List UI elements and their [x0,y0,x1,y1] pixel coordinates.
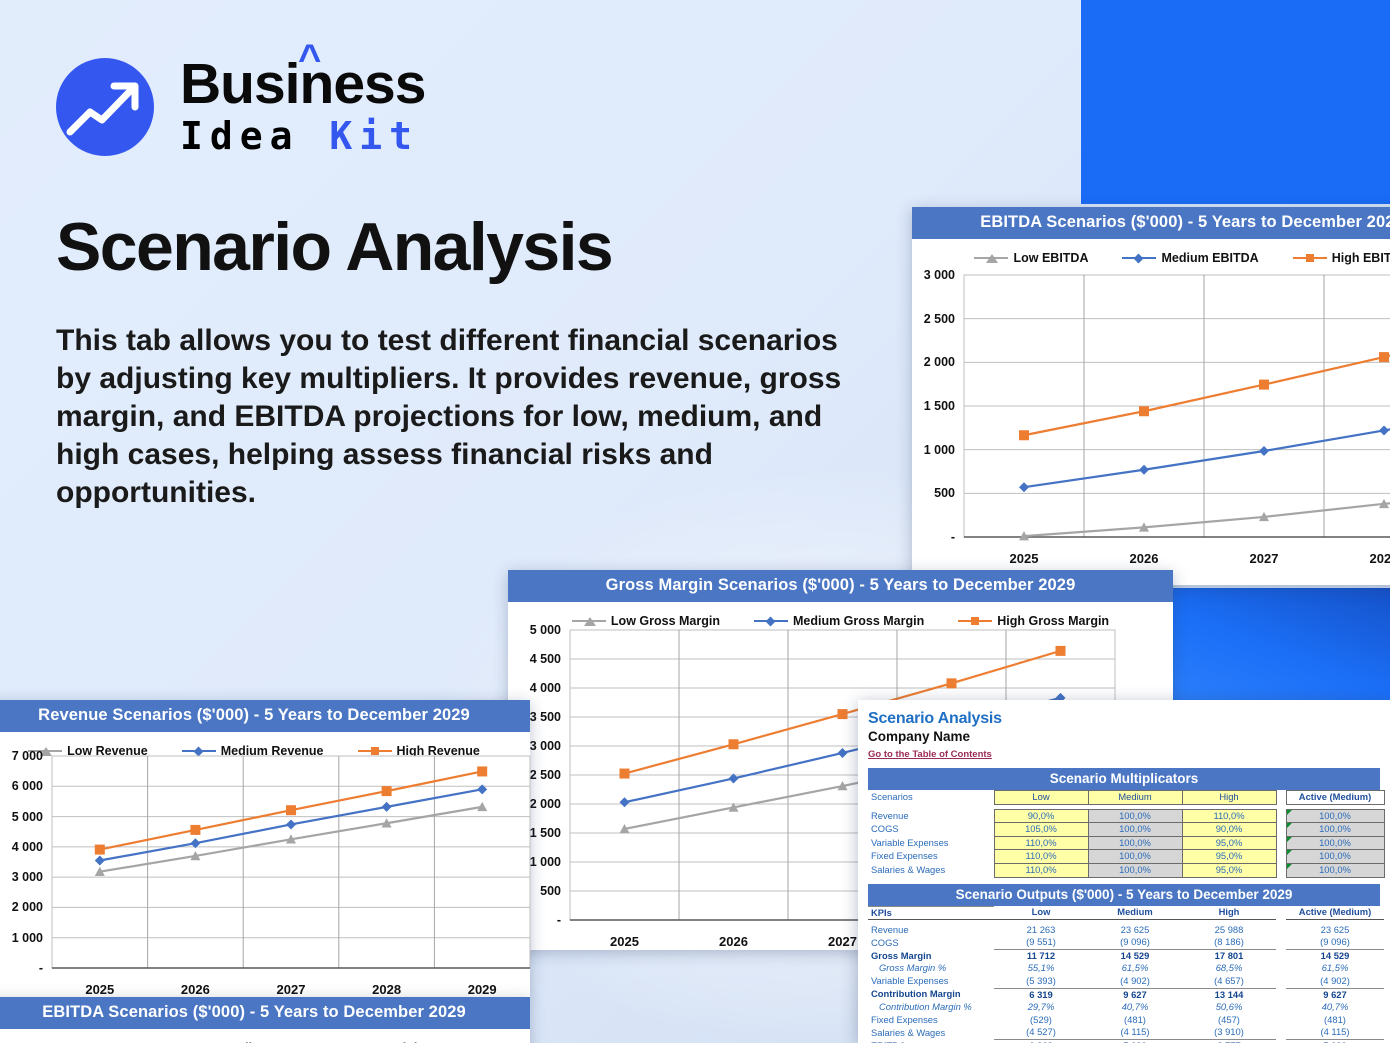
legend-label: Low EBITDA [1013,251,1088,265]
x-axis-tick-label: 2028 [1370,551,1390,566]
y-axis-tick-label: 3 000 [924,268,955,282]
cell-high: (457) [1182,1014,1276,1027]
cell-low: 11 712 [994,949,1088,962]
comment-flag-icon [1287,850,1292,855]
cell-active: (4 902) [1286,975,1384,988]
legend-label: Low Gross Margin [611,614,720,628]
cell-low: 1 263 [994,1040,1088,1043]
y-axis-tick-label: 2 500 [530,768,561,782]
table-header-row: ScenariosLowMediumHigh Active (Medium) [868,791,1384,805]
header-low: Low [994,791,1088,805]
chart-legend: Low EBITDA Medium EBITDA High EBITDA [0,1029,530,1043]
row-label: Contribution Margin % [868,1001,994,1014]
row-label: Revenue [868,809,994,823]
cell-medium[interactable]: 100,0% [1088,823,1182,837]
y-axis-tick-label: 2 000 [12,900,43,914]
cell-high: (8 186) [1182,936,1276,949]
cell-low: (4 527) [994,1026,1088,1039]
y-axis-tick-label: 500 [934,486,955,500]
y-axis-tick-label: - [39,961,43,975]
brand-text-idea: Idea [180,114,329,158]
cell-medium: 14 529 [1088,949,1182,962]
cell-high[interactable]: 90,0% [1182,823,1276,837]
cell-medium[interactable]: 100,0% [1088,863,1182,877]
cell-low: (5 393) [994,975,1088,988]
header-medium: Medium [1088,906,1182,920]
cell-high[interactable]: 95,0% [1182,850,1276,864]
cell-active: 100,0% [1286,823,1384,837]
row-label: COGS [868,936,994,949]
header-active: Active (Medium) [1286,906,1384,920]
header-high: High [1182,906,1276,920]
table-row[interactable]: Fixed Expenses 110,0% 100,0% 95,0% 100,0… [868,850,1384,864]
x-axis-tick-label: 2027 [1250,551,1279,566]
scenario-multiplicators-table[interactable]: ScenariosLowMediumHigh Active (Medium) R… [868,790,1385,878]
x-axis-tick-label: 2027 [277,982,306,997]
legend-swatch-icon [958,616,992,626]
cell-high: (4 657) [1182,975,1276,988]
brand-text-kit: Kit [329,114,419,158]
table-row[interactable]: Gross Margin % 55,1% 61,5% 68,5% 61,5% [868,962,1384,975]
row-label: Contribution Margin [868,988,994,1001]
chart-legend: Low EBITDA Medium EBITDA High EBITDA [912,239,1390,269]
cell-medium: 9 627 [1088,988,1182,1001]
cell-high: 25 988 [1182,924,1276,937]
legend-swatch-icon [1293,253,1327,263]
row-label: Revenue [868,924,994,937]
table-row[interactable]: EBITDA 1 263 5 030 8 777 5 030 [868,1040,1384,1043]
y-axis-tick-label: 2 000 [924,355,955,369]
cell-low: (529) [994,1014,1088,1027]
chart-title: EBITDA Scenarios ($'000) - 5 Years to De… [0,997,530,1029]
scenario-outputs-table[interactable]: KPIsLowMediumHigh Active (Medium) Revenu… [868,906,1384,1043]
cell-high: 17 801 [1182,949,1276,962]
legend-item-medium[interactable]: Medium Gross Margin [754,614,924,628]
y-axis-tick-label: - [951,530,955,544]
page-title: Scenario Analysis [56,208,612,286]
y-axis-tick-label: 7 000 [12,749,43,763]
chart-legend: Low Gross Margin Medium Gross Margin Hig… [508,602,1173,632]
cell-high[interactable]: 95,0% [1182,863,1276,877]
spreadsheet-company-name: Company Name [868,729,1390,744]
y-axis-tick-label: 3 500 [530,710,561,724]
cell-high: 68,5% [1182,962,1276,975]
x-axis-tick-label: 2025 [610,934,639,949]
table-row[interactable]: Contribution Margin 6 319 9 627 13 144 9… [868,988,1384,1001]
header-active: Active (Medium) [1286,791,1384,805]
cell-active: 9 627 [1286,988,1384,1001]
outputs-banner: Scenario Outputs ($'000) - 5 Years to De… [868,884,1380,906]
brand-line-idea-kit: Idea Kit [180,115,480,158]
cell-high: (3 910) [1182,1026,1276,1039]
cell-medium: 40,7% [1088,1001,1182,1014]
cell-low: (9 551) [994,936,1088,949]
y-axis-tick-label: - [557,913,561,927]
legend-label: Medium EBITDA [1161,251,1258,265]
multiplicators-banner: Scenario Multiplicators [868,768,1380,790]
cell-medium[interactable]: 100,0% [1088,850,1182,864]
x-axis-tick-label: 2026 [1130,551,1159,566]
page-description: This tab allows you to test different fi… [56,322,856,512]
cell-active: (481) [1286,1014,1384,1027]
cell-active: 100,0% [1286,850,1384,864]
x-axis-tick-label: 2026 [181,982,210,997]
chart-title: Gross Margin Scenarios ($'000) - 5 Years… [508,570,1173,602]
table-of-contents-link[interactable]: Go to the Table of Contents [868,749,992,760]
legend-item-low[interactable]: Low Gross Margin [572,614,720,628]
table-row[interactable]: Variable Expenses (5 393) (4 902) (4 657… [868,975,1384,988]
table-row[interactable]: Gross Margin 11 712 14 529 17 801 14 529 [868,949,1384,962]
legend-swatch-icon [358,746,392,756]
y-axis-tick-label: 500 [540,884,561,898]
legend-swatch-icon [1122,253,1156,263]
chart-card-ebitda-top[interactable]: EBITDA Scenarios ($'000) - 5 Years to De… [912,207,1390,585]
cell-high: 13 144 [1182,988,1276,1001]
cell-high[interactable]: 110,0% [1182,809,1276,823]
chart-card-ebitda-bottom[interactable]: EBITDA Scenarios ($'000) - 5 Years to De… [0,997,530,1043]
cell-medium: (481) [1088,1014,1182,1027]
y-axis-tick-label: 5 000 [530,623,561,637]
table-row[interactable]: Revenue 21 263 23 625 25 988 23 625 [868,924,1384,937]
legend-label: High EBITDA [1332,251,1390,265]
accent-rectangle-top [1081,0,1390,204]
cell-low: 21 263 [994,924,1088,937]
legend-label: High Gross Margin [997,614,1109,628]
legend-swatch-icon [572,616,606,626]
x-axis-tick-label: 2026 [719,934,748,949]
legend-item-low[interactable]: Low EBITDA [974,251,1088,265]
legend-swatch-icon [182,746,216,756]
y-axis-tick-label: 6 000 [12,779,43,793]
y-axis-tick-label: 5 000 [12,810,43,824]
y-axis-tick-label: 1 500 [924,399,955,413]
cell-high: 8 777 [1182,1040,1276,1043]
legend-swatch-icon [754,616,788,626]
table-row[interactable]: Salaries & Wages (4 527) (4 115) (3 910)… [868,1026,1384,1039]
cell-active: 23 625 [1286,924,1384,937]
row-label: Variable Expenses [868,975,994,988]
table-row[interactable]: COGS (9 551) (9 096) (8 186) (9 096) [868,936,1384,949]
cell-medium: 5 030 [1088,1040,1182,1043]
cell-high: 50,6% [1182,1001,1276,1014]
cell-low: 29,7% [994,1001,1088,1014]
spacer [1276,791,1286,805]
y-axis-tick-label: 3 000 [530,739,561,753]
legend-item-high[interactable]: High EBITDA [1293,251,1390,265]
spreadsheet-panel[interactable]: Scenario Analysis Company Name Go to the… [858,700,1390,1043]
cell-medium[interactable]: 100,0% [1088,809,1182,823]
row-label: Gross Margin [868,949,994,962]
cell-low[interactable]: 110,0% [994,836,1088,850]
row-label: EBITDA [868,1040,994,1043]
cell-low: 6 319 [994,988,1088,1001]
table-row[interactable]: Fixed Expenses (529) (481) (457) (481) [868,1014,1384,1027]
row-label: Fixed Expenses [868,1014,994,1027]
y-axis-tick-label: 4 000 [12,840,43,854]
legend-label: Medium Gross Margin [793,614,924,628]
legend-item-high[interactable]: High Gross Margin [958,614,1109,628]
y-axis-tick-label: 2 000 [530,797,561,811]
cell-high[interactable]: 95,0% [1182,836,1276,850]
row-label: Salaries & Wages [868,1026,994,1039]
x-axis-tick-label: 2027 [828,934,857,949]
chart-plot-area: 7 0006 0005 0004 0003 0002 0001 000-2025… [0,756,530,1008]
legend-item-medium[interactable]: Medium EBITDA [1122,251,1258,265]
accent-rectangle-middle [1170,588,1390,700]
cell-medium: (9 096) [1088,936,1182,949]
growth-arrow-icon [56,58,154,156]
brand-caret-icon: ^ [298,39,320,79]
spreadsheet-title: Scenario Analysis [868,710,1390,728]
x-axis-tick-label: 2025 [85,982,114,997]
table-header-row: KPIsLowMediumHigh Active (Medium) [868,906,1384,920]
cell-medium: 23 625 [1088,924,1182,937]
header-high: High [1182,791,1276,805]
cell-active: 100,0% [1286,809,1384,823]
brand-wordmark: Business ^ Idea Kit [180,56,480,158]
y-axis-tick-label: 2 500 [924,312,955,326]
chart-title: Revenue Scenarios ($'000) - 5 Years to D… [0,700,530,732]
table-row[interactable]: Revenue 90,0% 100,0% 110,0% 100,0% [868,809,1384,823]
cell-low[interactable]: 110,0% [994,863,1088,877]
row-label: Gross Margin % [868,962,994,975]
cell-active: 14 529 [1286,949,1384,962]
chart-plot-area: 3 0002 5002 0001 5001 000500-20252026202… [912,275,1390,577]
header-kpis: KPIs [868,906,994,920]
cell-active: 61,5% [1286,962,1384,975]
x-axis-tick-label: 2025 [1010,551,1039,566]
cell-medium: (4 902) [1088,975,1182,988]
cell-active: (9 096) [1286,936,1384,949]
cell-medium: 61,5% [1088,962,1182,975]
y-axis-tick-label: 3 000 [12,870,43,884]
table-row[interactable]: Contribution Margin % 29,7% 40,7% 50,6% … [868,1001,1384,1014]
chart-title: EBITDA Scenarios ($'000) - 5 Years to De… [912,207,1390,239]
cell-low[interactable]: 105,0% [994,823,1088,837]
cell-low[interactable]: 110,0% [994,850,1088,864]
cell-medium[interactable]: 100,0% [1088,836,1182,850]
x-axis-tick-label: 2029 [468,982,497,997]
cell-active: 100,0% [1286,863,1384,877]
brand-line-business: Business ^ [180,56,425,113]
comment-flag-icon [1287,837,1292,842]
chart-card-revenue[interactable]: Revenue Scenarios ($'000) - 5 Years to D… [0,700,530,997]
y-axis-tick-label: 1 000 [530,855,561,869]
x-axis-tick-label: 2028 [372,982,401,997]
y-axis-tick-label: 1 000 [12,931,43,945]
row-label: Variable Expenses [868,836,994,850]
table-row[interactable]: COGS 105,0% 100,0% 90,0% 100,0% [868,823,1384,837]
table-row[interactable]: Variable Expenses 110,0% 100,0% 95,0% 10… [868,836,1384,850]
header-medium: Medium [1088,791,1182,805]
y-axis-tick-label: 4 500 [530,652,561,666]
cell-active: 100,0% [1286,836,1384,850]
row-label: Fixed Expenses [868,850,994,864]
header-scenarios: Scenarios [868,791,994,805]
brand-logo [56,58,154,156]
comment-flag-icon [1287,864,1292,869]
y-axis-tick-label: 1 500 [530,826,561,840]
cell-medium: (4 115) [1088,1026,1182,1039]
row-label: Salaries & Wages [868,863,994,877]
comment-flag-icon [1287,823,1292,828]
comment-flag-icon [1287,810,1292,815]
cell-active: 5 030 [1286,1040,1384,1043]
cell-low[interactable]: 90,0% [994,809,1088,823]
y-axis-tick-label: 1 000 [924,443,955,457]
header-low: Low [994,906,1088,920]
cell-active: (4 115) [1286,1026,1384,1039]
table-row[interactable]: Salaries & Wages 110,0% 100,0% 95,0% 100… [868,863,1384,877]
row-label: COGS [868,823,994,837]
legend-swatch-icon [974,253,1008,263]
cell-active: 40,7% [1286,1001,1384,1014]
y-axis-tick-label: 4 000 [530,681,561,695]
cell-low: 55,1% [994,962,1088,975]
